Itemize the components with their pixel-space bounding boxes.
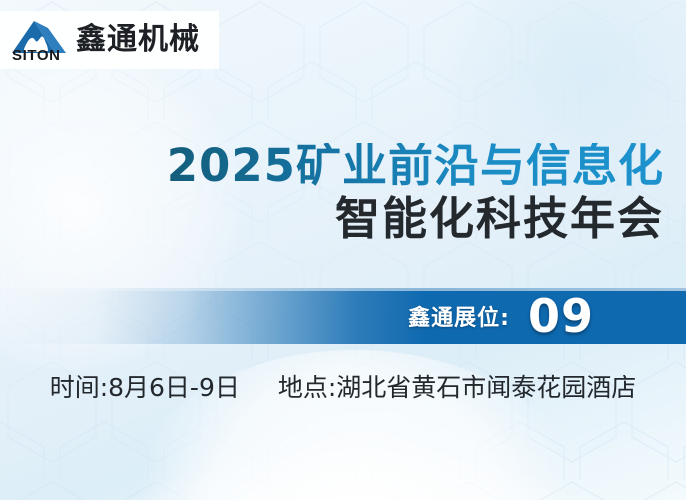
event-venue: 地点:湖北省黄石市闻泰花园酒店: [278, 368, 636, 404]
headline-line-1: 2025矿业前沿与信息化: [0, 143, 664, 190]
booth-banner: 鑫通展位: 09: [0, 288, 686, 344]
poster-headline: 2025矿业前沿与信息化 智能化科技年会: [0, 143, 664, 243]
booth-number: 09: [528, 293, 594, 339]
headline-line-2: 智能化科技年会: [0, 196, 664, 243]
company-logo: SITON 鑫通机械: [0, 11, 219, 69]
booth-label: 鑫通展位:: [408, 300, 510, 332]
logo-chinese-text: 鑫通机械: [76, 25, 200, 55]
event-details: 时间:8月6日-9日 地点:湖北省黄石市闻泰花园酒店: [0, 368, 686, 404]
logo-latin-text: SITON: [12, 47, 61, 64]
event-poster: SITON 鑫通机械 2025矿业前沿与信息化 智能化科技年会 鑫通展位: 09…: [0, 0, 686, 500]
event-date: 时间:8月6日-9日: [50, 368, 240, 404]
mountain-logo-icon: SITON: [8, 15, 70, 65]
hexagon-pattern-background: [0, 0, 686, 500]
